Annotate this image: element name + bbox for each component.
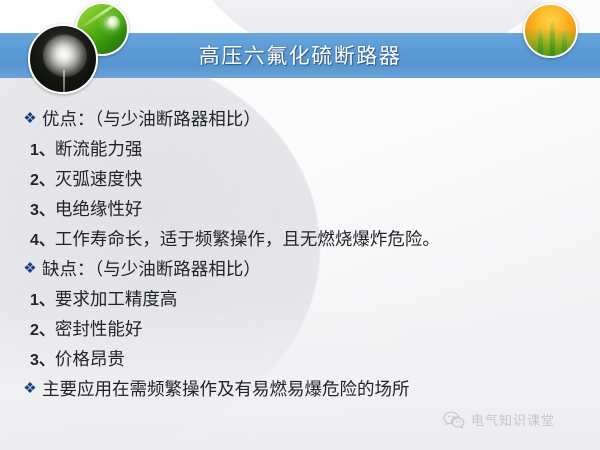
body-line-text: 工作寿命长，适于频繁操作，且无燃烧爆炸危险。 bbox=[55, 229, 440, 249]
body-line: ❖ 主要应用在需频繁操作及有易燃易爆危险的场所 bbox=[0, 374, 600, 404]
slide-body: ❖ 优点：（与少油断路器相比） 1、断流能力强 2、灭弧速度快 3、电绝缘性好 … bbox=[0, 104, 600, 404]
body-line: 1、断流能力强 bbox=[0, 134, 600, 164]
list-number: 3、 bbox=[30, 196, 55, 226]
body-line-text: 密封性能好 bbox=[55, 319, 143, 339]
body-line: 3、电绝缘性好 bbox=[0, 194, 600, 224]
diamond-bullet-icon: ❖ bbox=[22, 104, 38, 134]
tulip-blade bbox=[562, 28, 567, 56]
body-line: 4、工作寿命长，适于频繁操作，且无燃烧爆炸危险。 bbox=[0, 224, 600, 254]
tulip-blade bbox=[538, 26, 543, 56]
tulip-photo bbox=[523, 3, 578, 58]
water-drop bbox=[107, 16, 120, 31]
body-line-text: 电绝缘性好 bbox=[55, 199, 143, 219]
list-number: 3、 bbox=[30, 346, 55, 376]
body-line-text: 价格昂贵 bbox=[55, 349, 125, 369]
body-line: 2、密封性能好 bbox=[0, 314, 600, 344]
body-line-text: 优点：（与少油断路器相比） bbox=[42, 109, 261, 129]
diamond-bullet-icon: ❖ bbox=[22, 374, 38, 404]
body-line-text: 主要应用在需频繁操作及有易燃易爆危险的场所 bbox=[42, 379, 410, 399]
watermark-text: 电气知识课堂 bbox=[471, 410, 555, 429]
body-line: 2、灭弧速度快 bbox=[0, 164, 600, 194]
tulip-blade bbox=[550, 19, 555, 56]
body-line-text: 缺点：（与少油断路器相比） bbox=[42, 259, 261, 279]
watermark: 电气知识课堂 bbox=[443, 410, 555, 429]
body-line: 1、要求加工精度高 bbox=[0, 284, 600, 314]
wechat-icon bbox=[443, 411, 465, 429]
dandelion-puff bbox=[43, 35, 87, 77]
body-line: 3、价格昂贵 bbox=[0, 344, 600, 374]
diamond-bullet-icon: ❖ bbox=[22, 254, 38, 284]
list-number: 1、 bbox=[30, 286, 55, 316]
list-number: 1、 bbox=[30, 136, 55, 166]
body-line-text: 灭弧速度快 bbox=[55, 169, 143, 189]
body-line-text: 要求加工精度高 bbox=[55, 289, 178, 309]
dandelion-photo bbox=[28, 24, 98, 94]
presentation-slide: 高压六氟化硫断路器 ❖ 优点：（与少油断路器相比） 1、断流能力强 2、灭弧速度… bbox=[0, 0, 600, 450]
body-line: ❖ 缺点：（与少油断路器相比） bbox=[0, 254, 600, 284]
list-number: 2、 bbox=[30, 316, 55, 346]
list-number: 4、 bbox=[30, 226, 55, 256]
body-line: ❖ 优点：（与少油断路器相比） bbox=[0, 104, 600, 134]
body-line-text: 断流能力强 bbox=[55, 139, 143, 159]
list-number: 2、 bbox=[30, 166, 55, 196]
